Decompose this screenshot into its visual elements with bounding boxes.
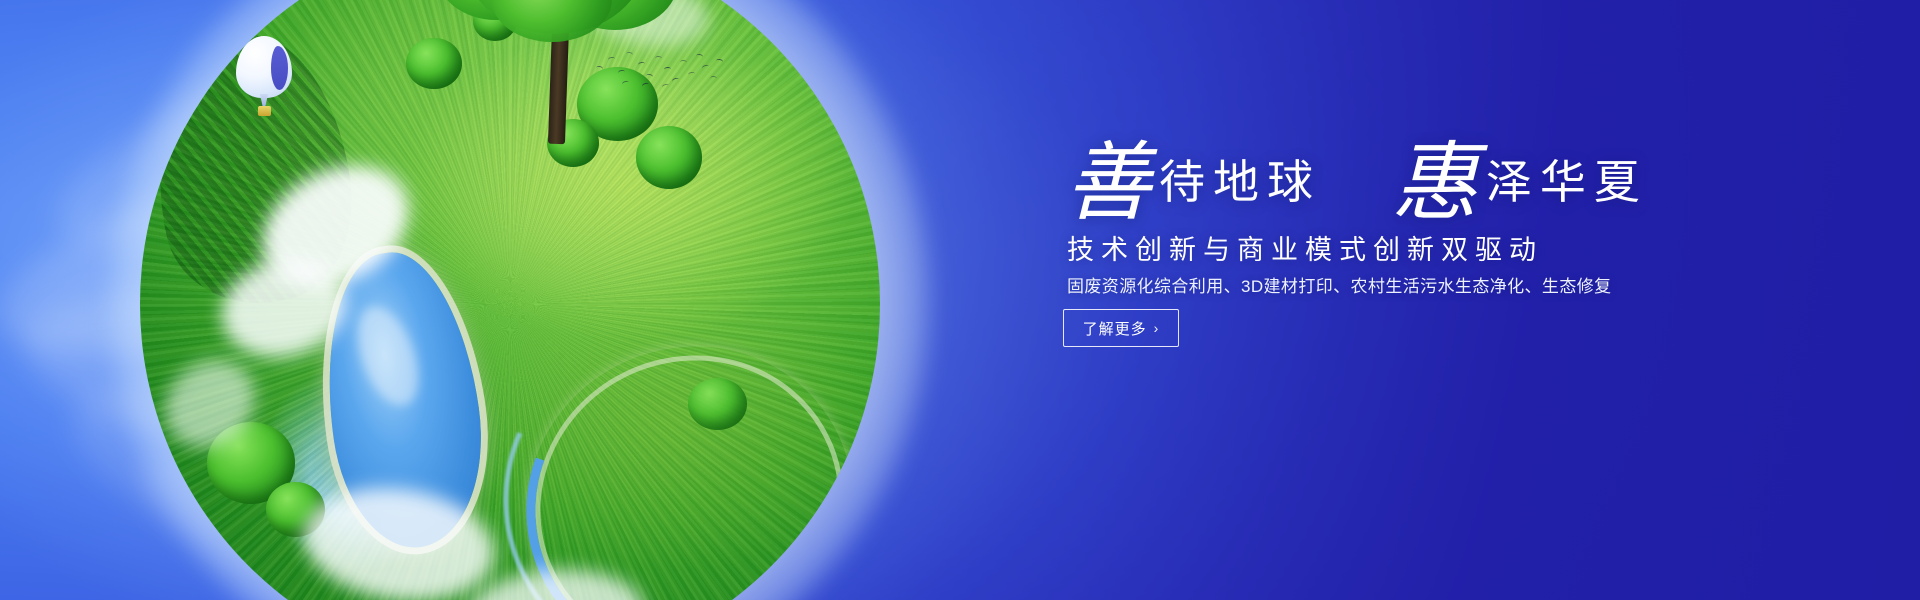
bird-icon: [621, 80, 629, 87]
headline-chars-small: 待地球: [1159, 157, 1321, 208]
learn-more-button[interactable]: 了解更多 ›: [1063, 309, 1179, 347]
bird-icon: [701, 64, 709, 71]
tree-canopy: [492, 0, 612, 42]
bird-icon: [710, 76, 717, 81]
headline-char-large: 惠: [1392, 135, 1478, 231]
banner-description: 固废资源化综合利用、3D建材打印、农村生活污水生态净化、生态修复: [1067, 272, 1612, 297]
bird-icon: [638, 61, 646, 67]
bird-icon: [641, 82, 649, 89]
bird-icon: [626, 51, 634, 57]
balloon-basket: [258, 106, 271, 116]
headline-phrase-2: 惠泽华夏: [1392, 140, 1648, 226]
bird-icon: [716, 58, 724, 64]
learn-more-label: 了解更多: [1083, 318, 1147, 339]
headline-chars-small: 泽华夏: [1486, 157, 1648, 208]
bird-icon: [696, 53, 704, 59]
balloon-stripe: [271, 46, 288, 90]
bird-icon: [664, 67, 671, 72]
tree-clump: [688, 378, 747, 430]
bird-icon: [618, 69, 626, 75]
banner-subtitle: 技术创新与商业模式创新双驱动: [1067, 228, 1543, 267]
headline-char-large: 善: [1065, 135, 1151, 231]
headline-phrase-1: 善待地球: [1065, 140, 1321, 226]
banner-copy: 善待地球 惠泽华夏 技术创新与商业模式创新双驱动 固废资源化综合利用、3D建材打…: [1045, 0, 1805, 600]
bird-icon: [671, 77, 679, 84]
page-title: 善待地球 惠泽华夏: [1065, 140, 1648, 226]
bird-icon: [596, 65, 604, 71]
hero-banner: 善待地球 惠泽华夏 技术创新与商业模式创新双驱动 固废资源化综合利用、3D建材打…: [0, 0, 1920, 600]
hot-air-balloon-icon: [236, 36, 292, 122]
bird-icon: [655, 56, 662, 61]
bird-icon: [661, 83, 669, 90]
bird-icon: [688, 71, 696, 77]
birds-flock-icon: [592, 48, 722, 92]
bird-icon: [646, 73, 654, 79]
bird-icon: [680, 60, 687, 65]
chevron-right-icon: ›: [1154, 320, 1160, 336]
bird-icon: [608, 56, 616, 62]
tree-trunk: [548, 26, 569, 145]
